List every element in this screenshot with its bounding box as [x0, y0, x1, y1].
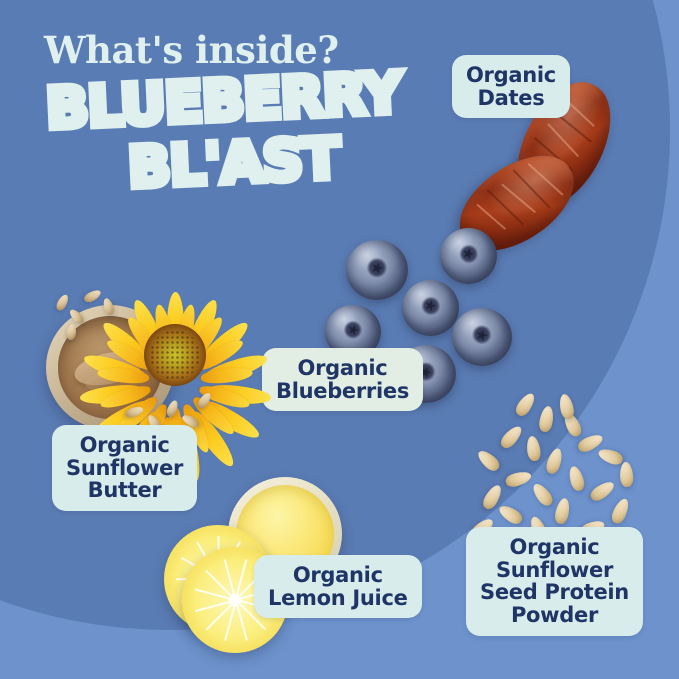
- label-line: Lemon Juice: [268, 587, 408, 610]
- blueberry-image: [440, 228, 497, 284]
- ingredient-label-dates: Organic Dates: [452, 55, 570, 118]
- label-line: Organic: [276, 357, 409, 380]
- label-line: Butter: [66, 479, 183, 502]
- label-line: Organic: [66, 434, 183, 457]
- ingredient-label-lemon-juice: Organic Lemon Juice: [254, 555, 422, 618]
- blueberry-image: [402, 280, 459, 336]
- page-title: What's inside?: [44, 32, 464, 69]
- blueberry-image: [452, 308, 512, 366]
- label-line: Organic: [268, 564, 408, 587]
- blueberry-image: [346, 240, 408, 300]
- label-line: Organic: [466, 64, 556, 87]
- ingredient-infographic-poster: What's inside? BLUEBERRY BL'AST Organic …: [0, 0, 679, 679]
- label-line: Blueberries: [276, 380, 409, 403]
- label-line: Sunflower: [480, 559, 629, 582]
- ingredient-label-sunflower-seed-protein-powder: Organic Sunflower Seed Protein Powder: [466, 527, 643, 636]
- label-line: Seed Protein: [480, 581, 629, 604]
- label-line: Sunflower: [66, 457, 183, 480]
- wordmark-line-1: BLUEBERRY: [45, 64, 465, 136]
- label-line: Dates: [466, 87, 556, 110]
- ingredient-label-sunflower-butter: Organic Sunflower Butter: [52, 425, 197, 511]
- product-wordmark: BLUEBERRY BL'AST: [44, 83, 464, 195]
- wordmark-line-2: BL'AST: [127, 127, 465, 195]
- label-line: Powder: [480, 604, 629, 627]
- label-line: Organic: [480, 536, 629, 559]
- ingredient-label-blueberries: Organic Blueberries: [262, 348, 423, 411]
- headline-block: What's inside? BLUEBERRY BL'AST: [44, 32, 464, 195]
